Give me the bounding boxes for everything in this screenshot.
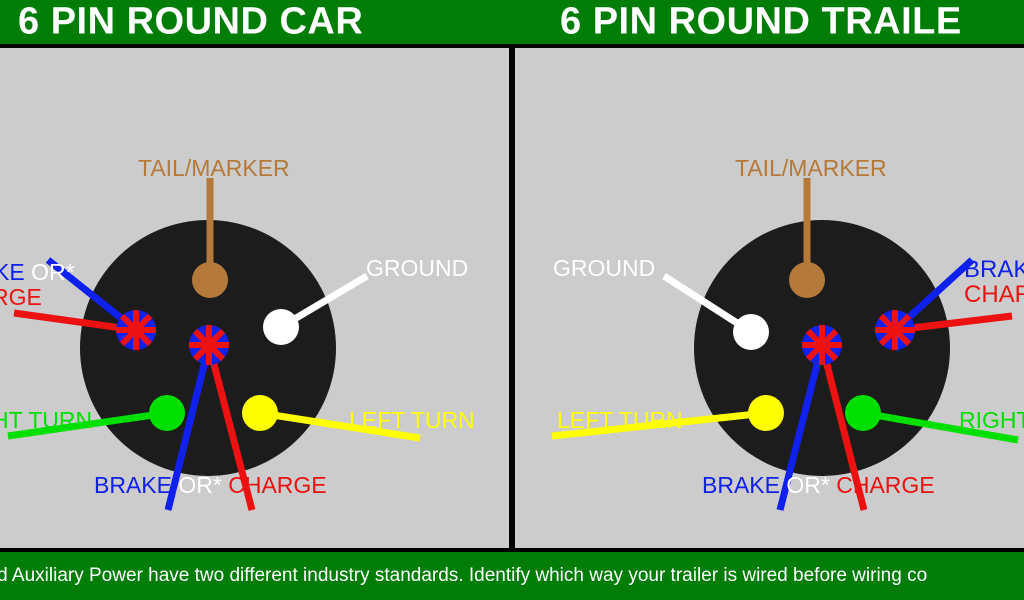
- label-ground: GROUND: [553, 256, 655, 280]
- tail-marker-pin[interactable]: [789, 262, 825, 298]
- label-center-brake: BRAKE: [702, 472, 780, 498]
- tail-marker-pin[interactable]: [192, 262, 228, 298]
- label-right-turn-clipped: HT TURN: [0, 408, 92, 432]
- brake-charge-pin-center[interactable]: [802, 325, 842, 365]
- footer-caption: and Auxiliary Power have two different i…: [0, 565, 927, 587]
- label-center-brake: BRAKE: [94, 472, 172, 498]
- label-tail-marker: TAIL/MARKER: [138, 156, 290, 180]
- panel-trailer-connector: TAIL/MARKER GROUND BRAKE CHARGE LEFT TUR…: [512, 48, 1024, 548]
- label-center-charge: CHARGE: [228, 472, 326, 498]
- left-turn-pin[interactable]: [242, 395, 278, 431]
- brake-charge-pin-upper-right[interactable]: [875, 310, 915, 350]
- label-charge-clipped: RGE: [0, 285, 42, 309]
- label-center-or: OR*: [786, 472, 829, 498]
- ground-pin[interactable]: [733, 314, 769, 350]
- label-center-charge: CHARGE: [836, 472, 934, 498]
- footer-band: and Auxiliary Power have two different i…: [0, 548, 1024, 600]
- brake-charge-pin-center[interactable]: [189, 325, 229, 365]
- right-turn-pin[interactable]: [845, 395, 881, 431]
- label-charge-clipped: CHARGE: [964, 282, 1024, 307]
- panel-divider: [509, 48, 515, 548]
- header-band-car: 6 PIN ROUND CAR: [0, 0, 512, 48]
- label-center-brake-or-charge: BRAKE OR* CHARGE: [94, 473, 327, 497]
- label-brake-clipped-or: OR*: [31, 259, 74, 285]
- ground-pin[interactable]: [263, 309, 299, 345]
- wiring-diagram-page: 6 PIN ROUND CAR 6 PIN ROUND TRAILE: [0, 0, 1024, 600]
- label-left-turn: LEFT TURN: [349, 408, 475, 432]
- header-band-trailer: 6 PIN ROUND TRAILE: [512, 0, 1024, 48]
- right-turn-pin[interactable]: [149, 395, 185, 431]
- panel-car-connector: TAIL/MARKER GROUND KE OR* RGE HT TURN LE…: [0, 48, 512, 548]
- label-center-brake-or-charge: BRAKE OR* CHARGE: [702, 473, 935, 497]
- label-tail-marker: TAIL/MARKER: [735, 156, 887, 180]
- label-left-turn: LEFT TURN: [557, 408, 683, 432]
- left-turn-pin[interactable]: [748, 395, 784, 431]
- label-brake-clipped-blue: KE: [0, 259, 25, 285]
- label-ground: GROUND: [366, 256, 468, 280]
- label-center-or: OR*: [178, 472, 221, 498]
- label-brake-clipped: BRAKE: [964, 257, 1024, 282]
- header-title-car: 6 PIN ROUND CAR: [18, 1, 363, 44]
- label-right-turn-clipped: RIGHT T: [959, 408, 1024, 432]
- brake-charge-pin-upper-left[interactable]: [116, 310, 156, 350]
- label-brake-clipped: KE OR*: [0, 260, 75, 284]
- header-title-trailer: 6 PIN ROUND TRAILE: [560, 1, 962, 44]
